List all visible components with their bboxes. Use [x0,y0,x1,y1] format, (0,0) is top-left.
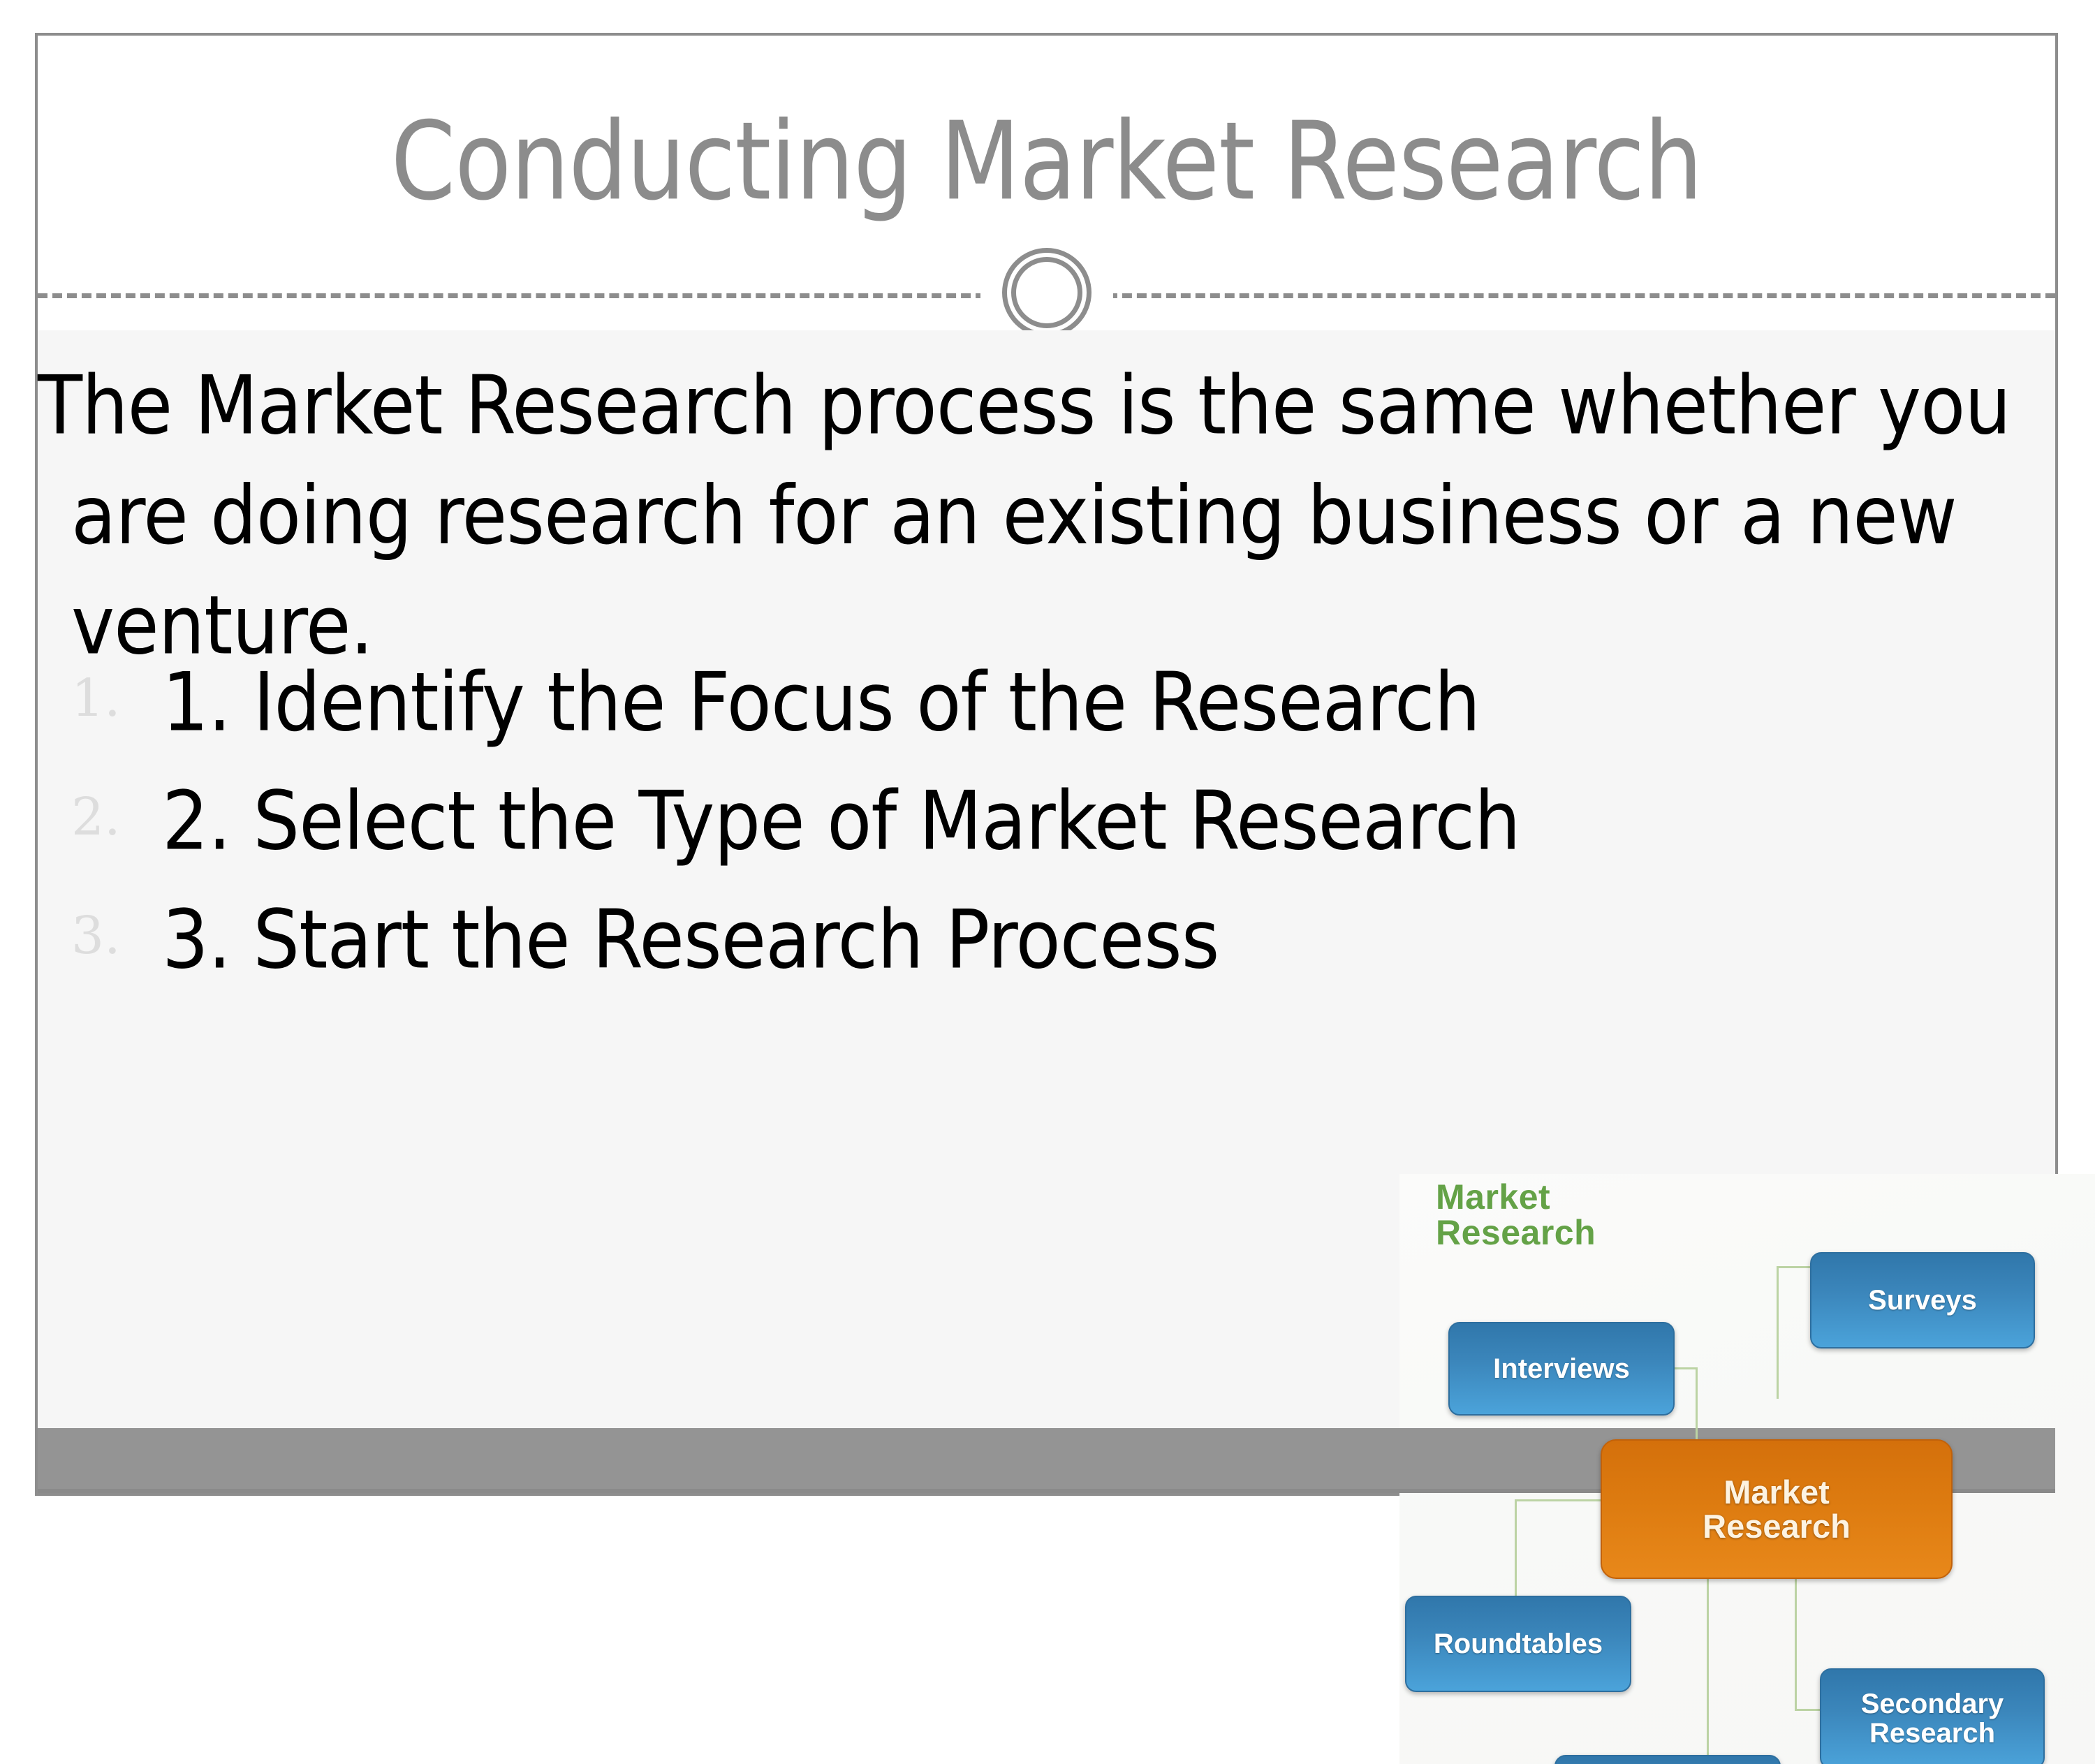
slide-frame: Conducting Market Research The Market Re… [35,33,2058,1496]
intro-paragraph: The Market Research process is the same … [38,351,2091,680]
intro-line-1: The Market Research process is the same … [38,351,2091,461]
center-node-line-2: Research [1703,1509,1851,1543]
diagram-node-focus-groups: Focus Groups [1554,1755,1781,1764]
diagram-node-surveys: Surveys [1810,1252,2035,1348]
page-title: Conducting Market Research [78,98,2015,224]
center-node-line-1: Market [1703,1475,1851,1509]
content-body: The Market Research process is the same … [38,330,2055,1428]
numbered-step-list: 1. 1. Identify the Focus of the Research… [38,659,1574,1015]
diagram-node-secondary-research: Secondary Research [1820,1668,2045,1764]
connector-roundtables-horizontal [1515,1499,1602,1501]
diagram-node-surveys-label: Surveys [1868,1286,1977,1315]
connector-secondary-vertical [1795,1576,1797,1709]
diagram-node-roundtables: Roundtables [1405,1596,1631,1692]
diagram-caption-line-1: Market [1436,1179,1596,1215]
circle-ornament-inner-icon [1011,257,1082,328]
title-divider [38,291,2055,299]
list-item: 2. 2. Select the Type of Market Research [38,777,1574,896]
list-item: 1. 1. Identify the Focus of the Research [38,659,1574,777]
secondary-research-line-1: Secondary [1861,1689,2004,1719]
list-marker: 1. [71,668,121,728]
connector-focus-groups-vertical [1707,1576,1709,1758]
diagram-node-market-research-center: Market Research [1601,1439,1953,1579]
diagram-node-interviews: Interviews [1448,1322,1675,1416]
diagram-node-roundtables-label: Roundtables [1434,1629,1603,1659]
diagram-caption-line-2: Research [1436,1215,1596,1251]
list-item-label: 2. Select the Type of Market Research [162,774,1520,868]
connector-surveys-vertical [1777,1266,1779,1399]
connector-interviews-vertical [1696,1367,1698,1444]
list-marker: 2. [71,787,121,847]
connector-roundtables-vertical [1515,1499,1517,1611]
connector-surveys-horizontal [1777,1266,1811,1268]
list-item-label: 1. Identify the Focus of the Research [162,656,1480,749]
intro-line-2: are doing research for an existing busin… [38,461,2091,571]
list-marker: 3. [71,906,121,966]
secondary-research-line-2: Research [1861,1719,2004,1748]
diagram-caption: Market Research [1436,1179,1596,1251]
list-item-label: 3. Start the Research Process [162,893,1219,987]
list-item: 3. 3. Start the Research Process [38,896,1574,1015]
diagram-node-interviews-label: Interviews [1493,1354,1630,1383]
